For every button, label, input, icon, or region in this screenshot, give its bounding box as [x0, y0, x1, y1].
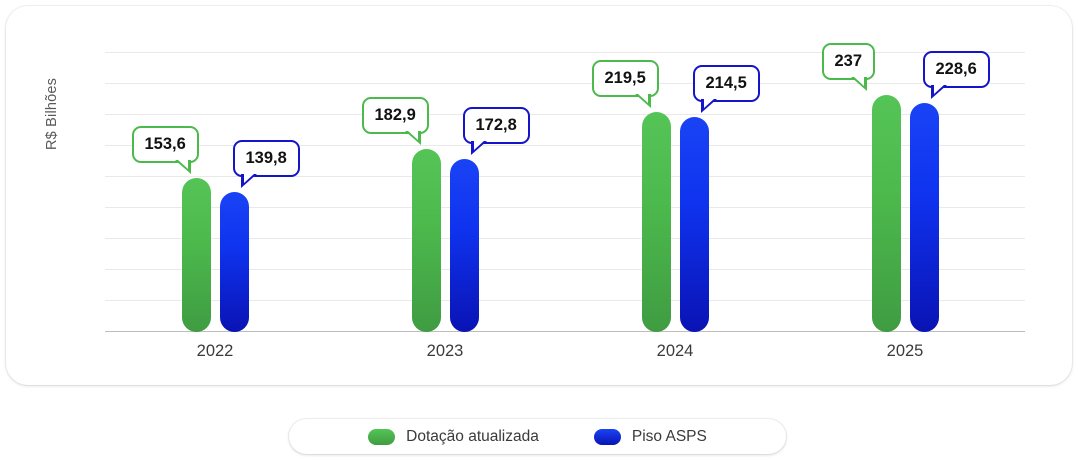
value-label: 219,5 — [605, 69, 646, 88]
value-callout-2025-dotacao: 237 — [822, 43, 876, 80]
value-callout-2022-piso: 139,8 — [233, 140, 300, 177]
gridline — [105, 52, 1025, 53]
value-label: 214,5 — [706, 74, 747, 93]
bar-2024-piso[interactable] — [680, 117, 709, 332]
value-label: 139,8 — [246, 149, 287, 168]
gridline — [105, 83, 1025, 84]
bar-2025-piso[interactable] — [910, 103, 939, 332]
bar-2023-dotacao[interactable] — [412, 149, 441, 332]
value-callout-2023-dotacao: 182,9 — [362, 97, 429, 134]
value-callout-2023-piso: 172,8 — [463, 107, 530, 144]
callout-tail-fill — [244, 173, 255, 183]
callout-tail-fill — [934, 84, 945, 94]
value-label: 237 — [835, 52, 863, 71]
value-label: 153,6 — [145, 135, 186, 154]
value-callout-2025-piso: 228,6 — [923, 51, 990, 88]
chart-card: R$ Bilhões 2022202320242025 153,6139,818… — [6, 6, 1072, 385]
value-callout-2024-piso: 214,5 — [693, 65, 760, 102]
legend-item-piso-asps[interactable]: Piso ASPS — [594, 428, 707, 446]
bar-2023-piso[interactable] — [450, 159, 479, 332]
x-axis-label-2024: 2024 — [605, 342, 745, 361]
legend-label: Piso ASPS — [632, 428, 707, 446]
blue-swatch-icon — [594, 429, 621, 445]
bar-2022-dotacao[interactable] — [182, 178, 211, 332]
y-axis-title: R$ Bilhões — [44, 132, 60, 150]
value-callout-2022-dotacao: 153,6 — [132, 126, 199, 163]
value-label: 228,6 — [936, 60, 977, 79]
bar-2024-dotacao[interactable] — [642, 112, 671, 332]
callout-tail-fill — [637, 93, 648, 103]
value-callout-2024-dotacao: 219,5 — [592, 60, 659, 97]
value-label: 182,9 — [375, 106, 416, 125]
legend-label: Dotação atualizada — [406, 428, 539, 446]
callout-tail-fill — [853, 76, 864, 86]
callout-tail-fill — [474, 140, 485, 150]
chart-page: R$ Bilhões 2022202320242025 153,6139,818… — [0, 0, 1078, 460]
callout-tail-fill — [407, 130, 418, 140]
callout-tail-fill — [177, 159, 188, 169]
bar-2025-dotacao[interactable] — [872, 95, 901, 332]
bar-2022-piso[interactable] — [220, 192, 249, 332]
chart-legend[interactable]: Dotação atualizada Piso ASPS — [289, 419, 786, 454]
x-axis-label-2025: 2025 — [835, 342, 975, 361]
x-axis-label-2023: 2023 — [375, 342, 515, 361]
green-swatch-icon — [368, 429, 395, 445]
callout-tail-fill — [704, 98, 715, 108]
value-label: 172,8 — [476, 116, 517, 135]
plot-area — [105, 52, 1025, 332]
legend-item-dotacao-atualizada[interactable]: Dotação atualizada — [368, 428, 539, 446]
x-axis-label-2022: 2022 — [145, 342, 285, 361]
